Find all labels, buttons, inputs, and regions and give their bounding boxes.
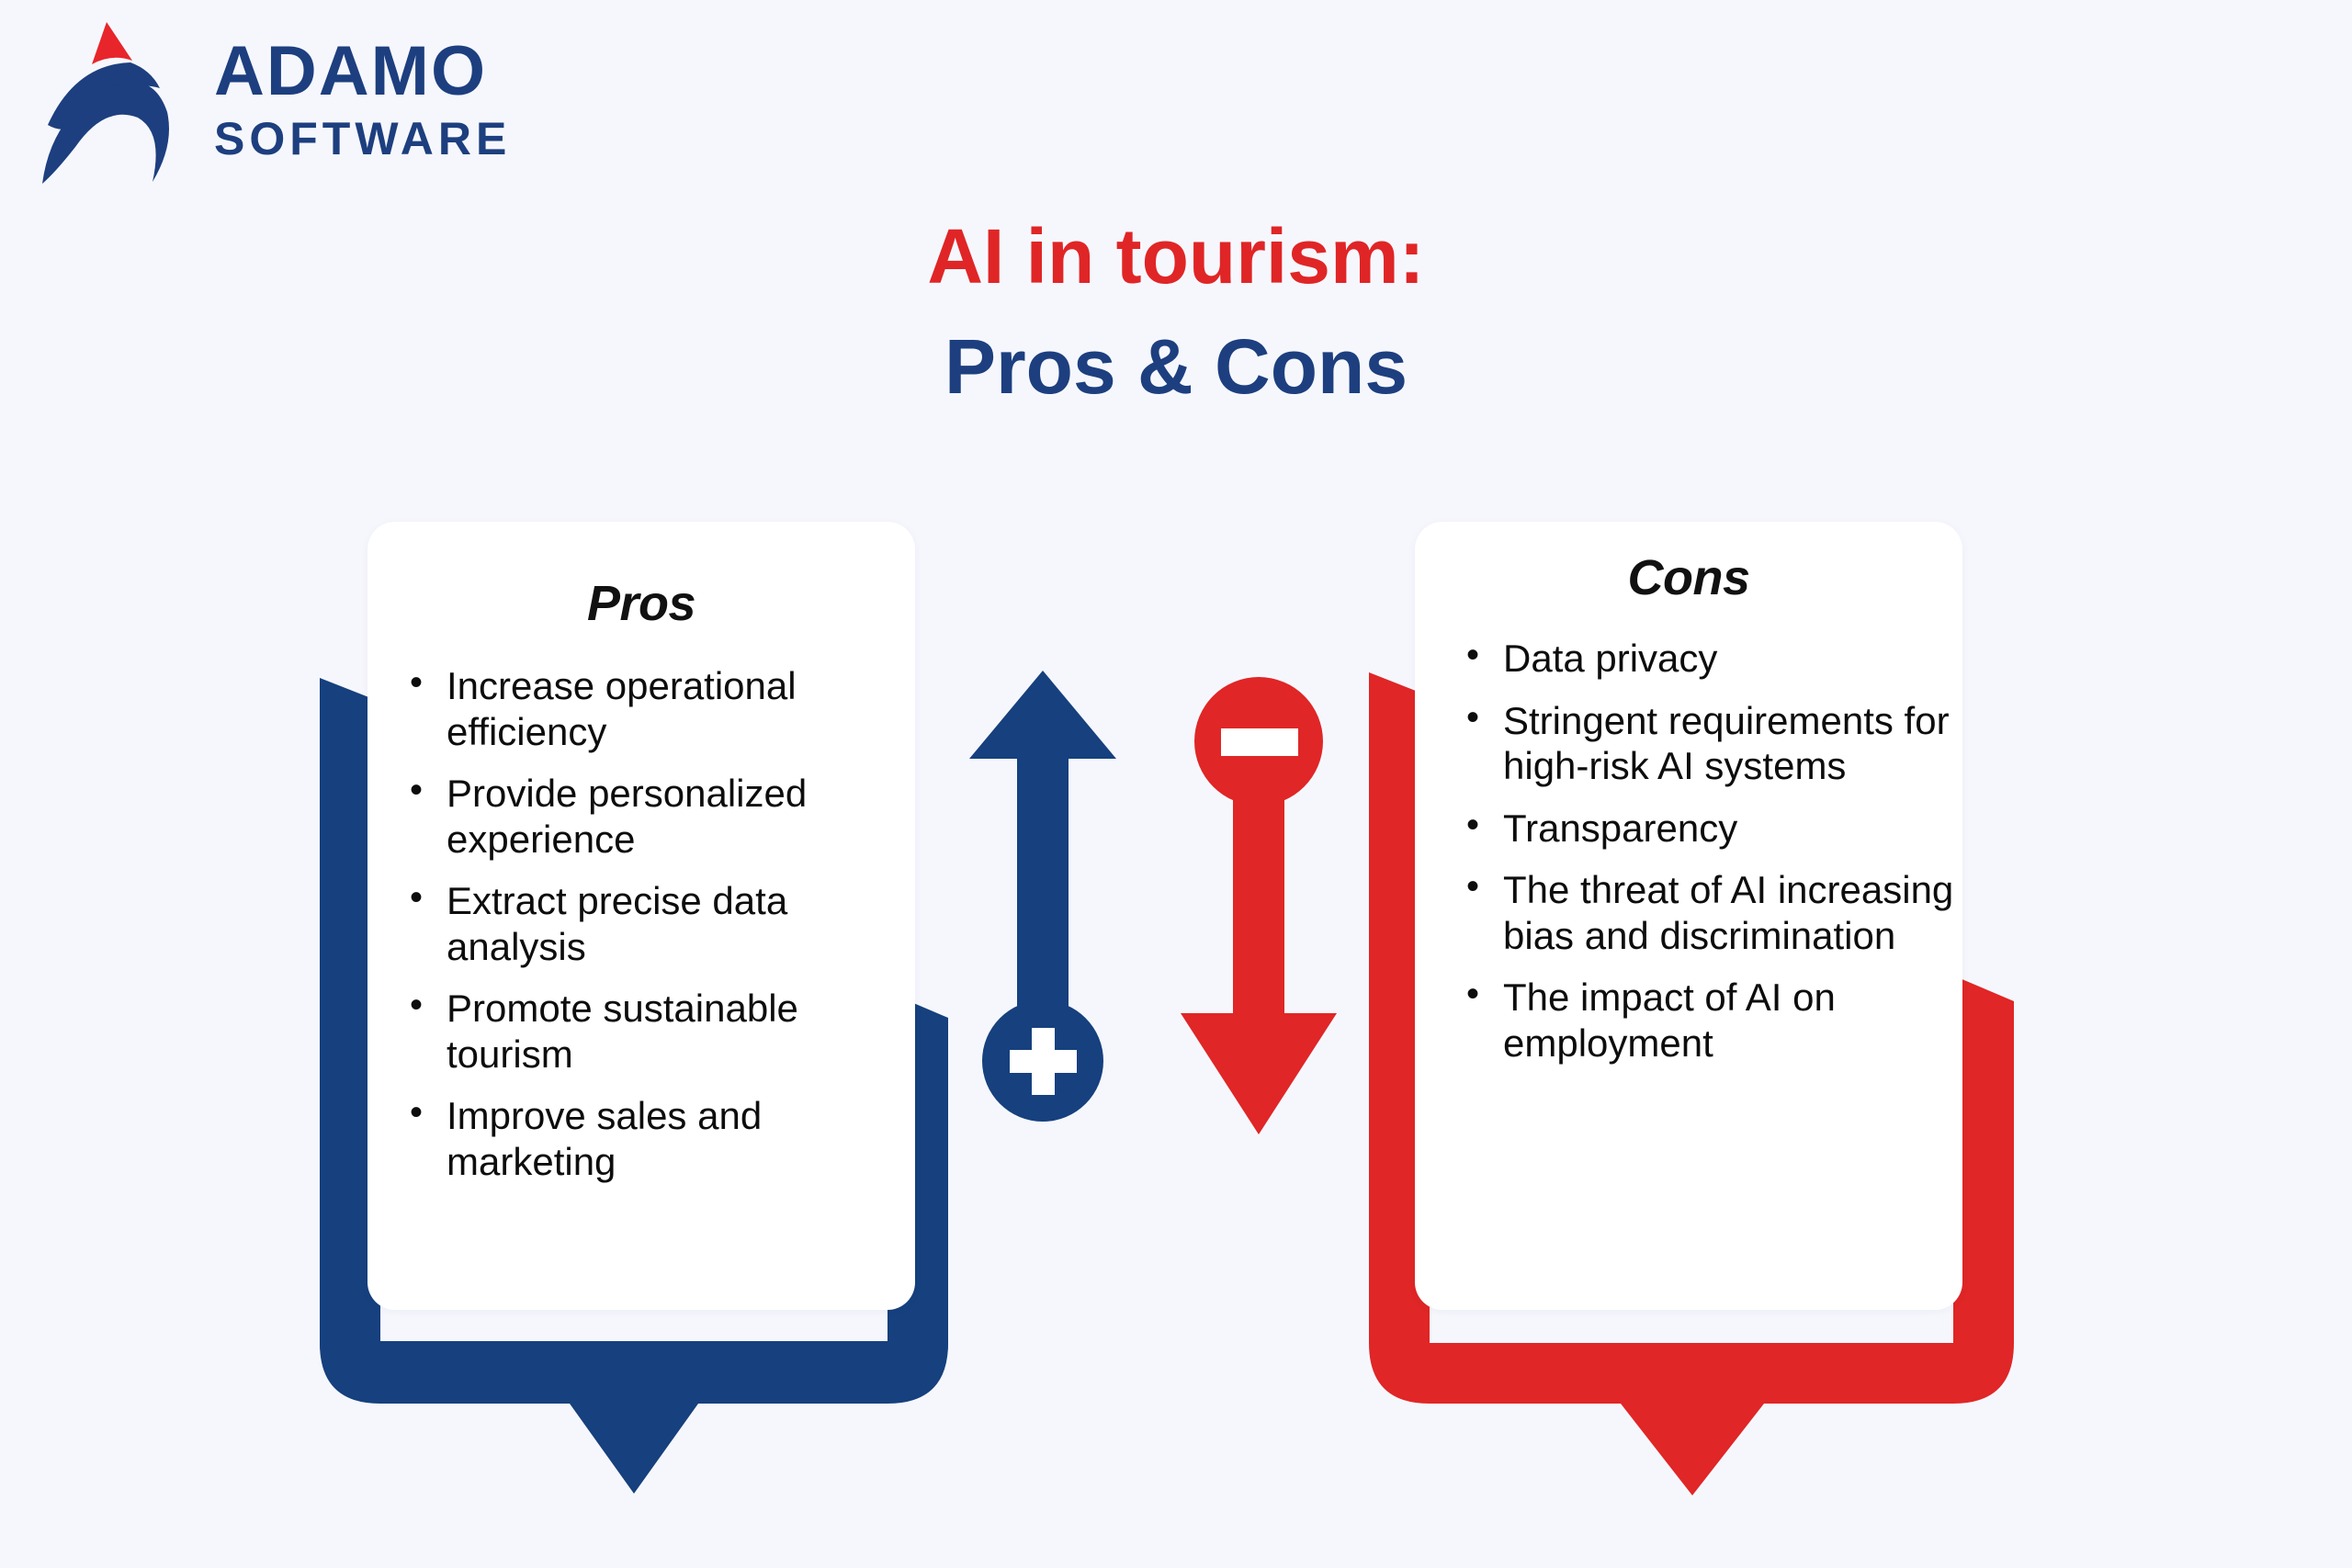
list-item: Provide personalized experience	[410, 771, 891, 862]
pros-heading: Pros	[367, 575, 915, 632]
brand-subtitle: SOFTWARE	[214, 116, 618, 162]
title-line-2: Pros & Cons	[0, 320, 2352, 413]
list-item: The threat of AI increasing bias and dis…	[1466, 867, 1957, 958]
brand-wordmark: ADAMO SOFTWARE	[214, 37, 618, 162]
brand-name: ADAMO	[214, 37, 618, 107]
list-item: Promote sustainable tourism	[410, 986, 891, 1077]
list-item: Transparency	[1466, 806, 1957, 852]
pros-card: Pros Increase operational efficiency Pro…	[367, 522, 915, 1310]
infographic-canvas: ADAMO SOFTWARE AI in tourism: Pros & Con…	[0, 0, 2352, 1568]
list-item: Improve sales and marketing	[410, 1093, 891, 1184]
adamo-rocket-swoosh-logo-icon	[35, 17, 182, 186]
cons-bullet-list: Data privacy Stringent requirements for …	[1415, 636, 1962, 1066]
list-item: Data privacy	[1466, 636, 1957, 682]
list-item: Increase operational efficiency	[410, 663, 891, 754]
list-item: Stringent requirements for high-risk AI …	[1466, 698, 1957, 789]
list-item: The impact of AI on employment	[1466, 975, 1957, 1066]
up-arrow-plus-icon	[969, 671, 1116, 1130]
cons-heading: Cons	[1415, 549, 1962, 606]
pros-bullet-list: Increase operational efficiency Provide …	[367, 663, 915, 1184]
cons-card: Cons Data privacy Stringent requirements…	[1415, 522, 1962, 1310]
page-title: AI in tourism: Pros & Cons	[0, 209, 2352, 414]
down-arrow-minus-icon	[1181, 675, 1337, 1134]
list-item: Extract precise data analysis	[410, 878, 891, 969]
brand-logo: ADAMO SOFTWARE	[35, 17, 623, 191]
title-line-1: AI in tourism:	[0, 209, 2352, 303]
